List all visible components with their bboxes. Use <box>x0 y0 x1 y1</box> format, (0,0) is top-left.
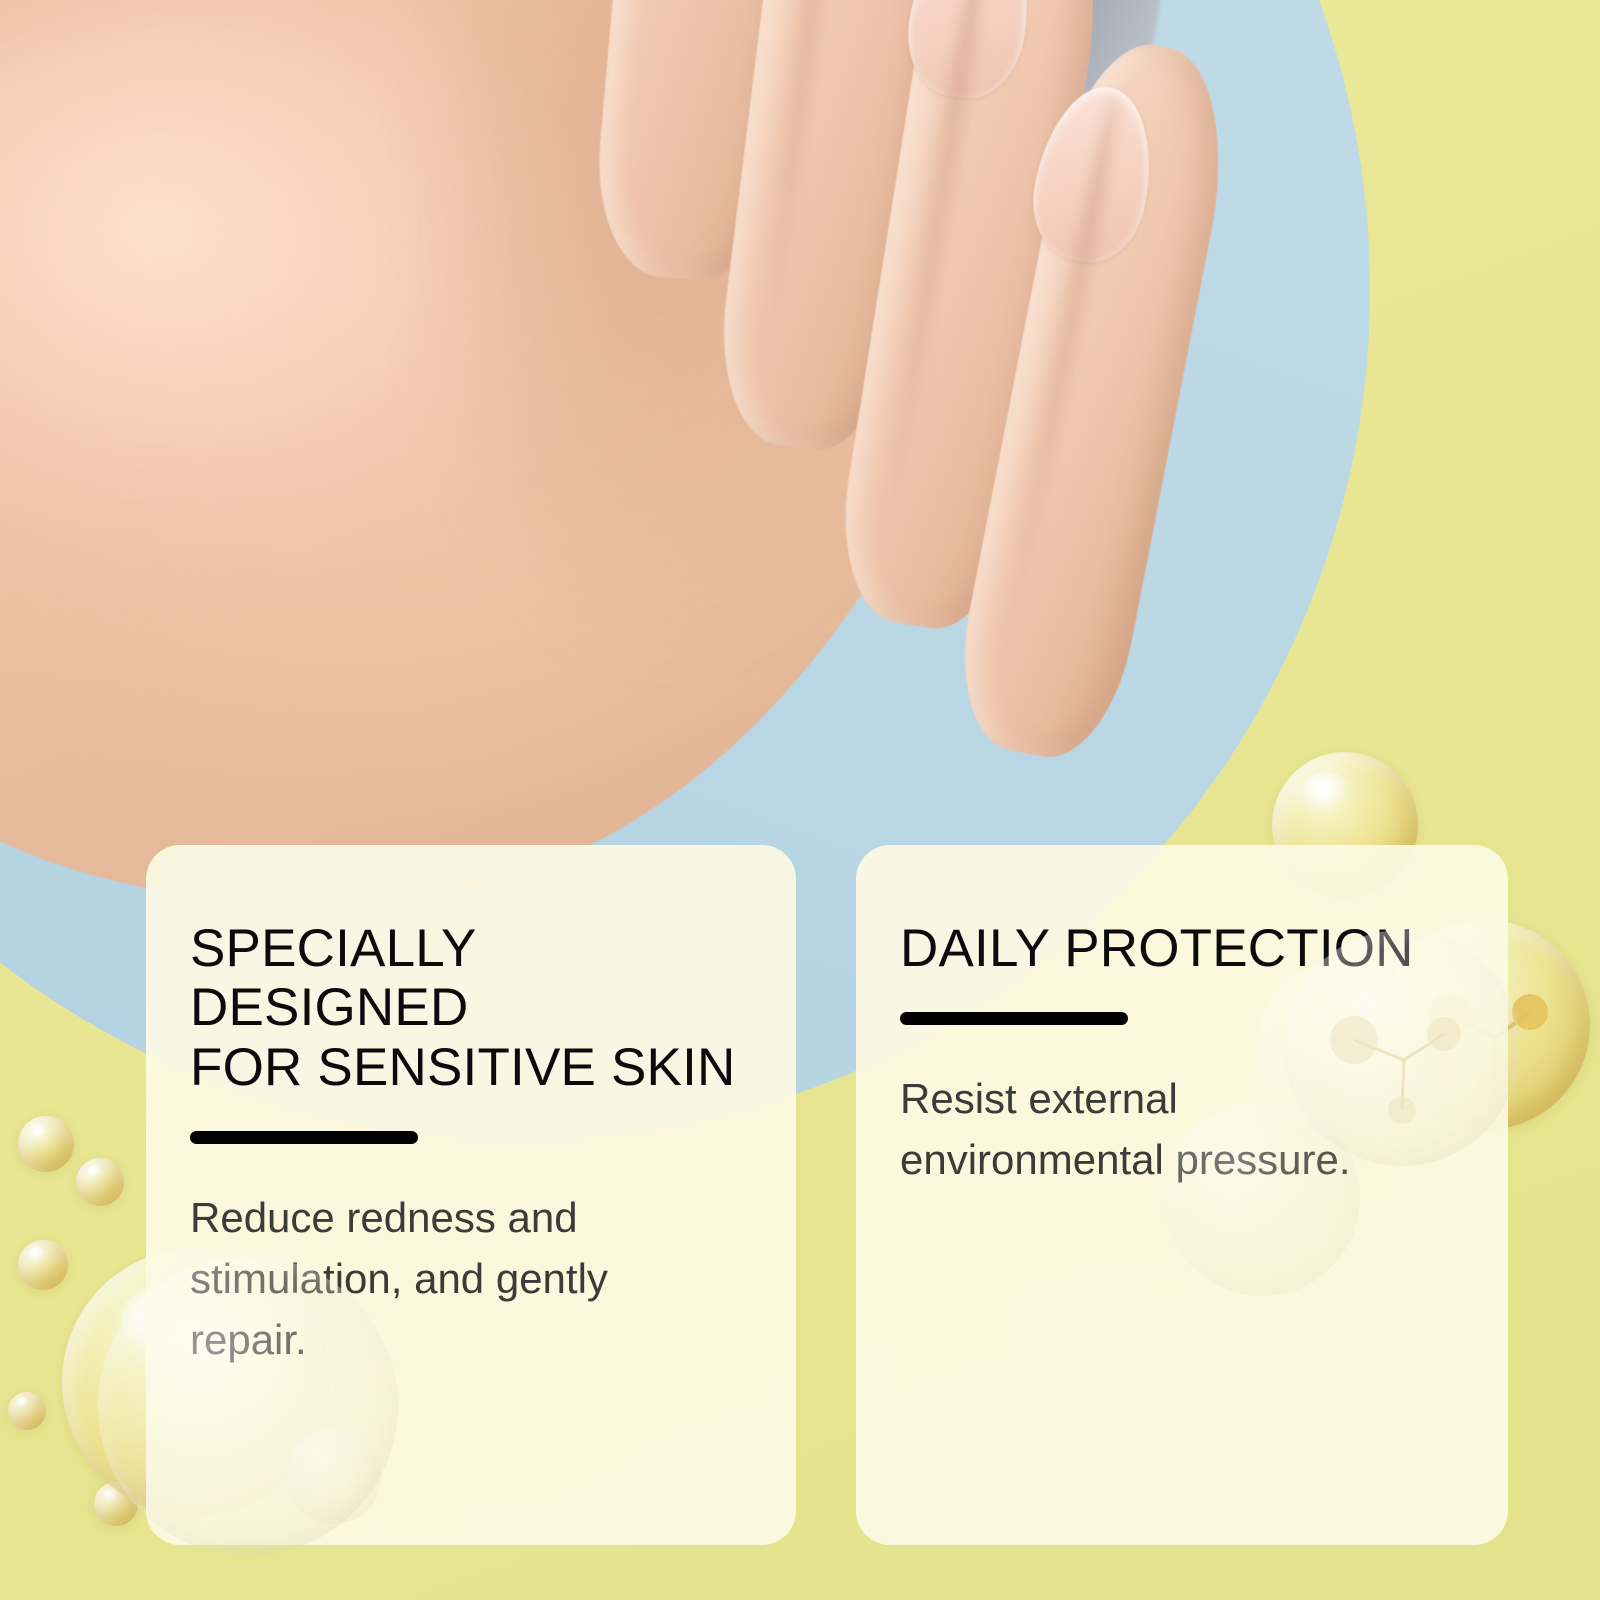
serum-bubble-overlay-card-left <box>286 1428 382 1524</box>
card-rule-sensitive-skin <box>190 1131 418 1144</box>
card-rule-daily-protection <box>900 1012 1128 1025</box>
serum-bubble-overlay-card-right <box>1164 1100 1360 1296</box>
skincare-feature-banner: SPECIALLY DESIGNED FOR SENSITIVE SKIN Re… <box>0 0 1600 1600</box>
card-title-sensitive-skin: SPECIALLY DESIGNED FOR SENSITIVE SKIN <box>190 919 752 1097</box>
